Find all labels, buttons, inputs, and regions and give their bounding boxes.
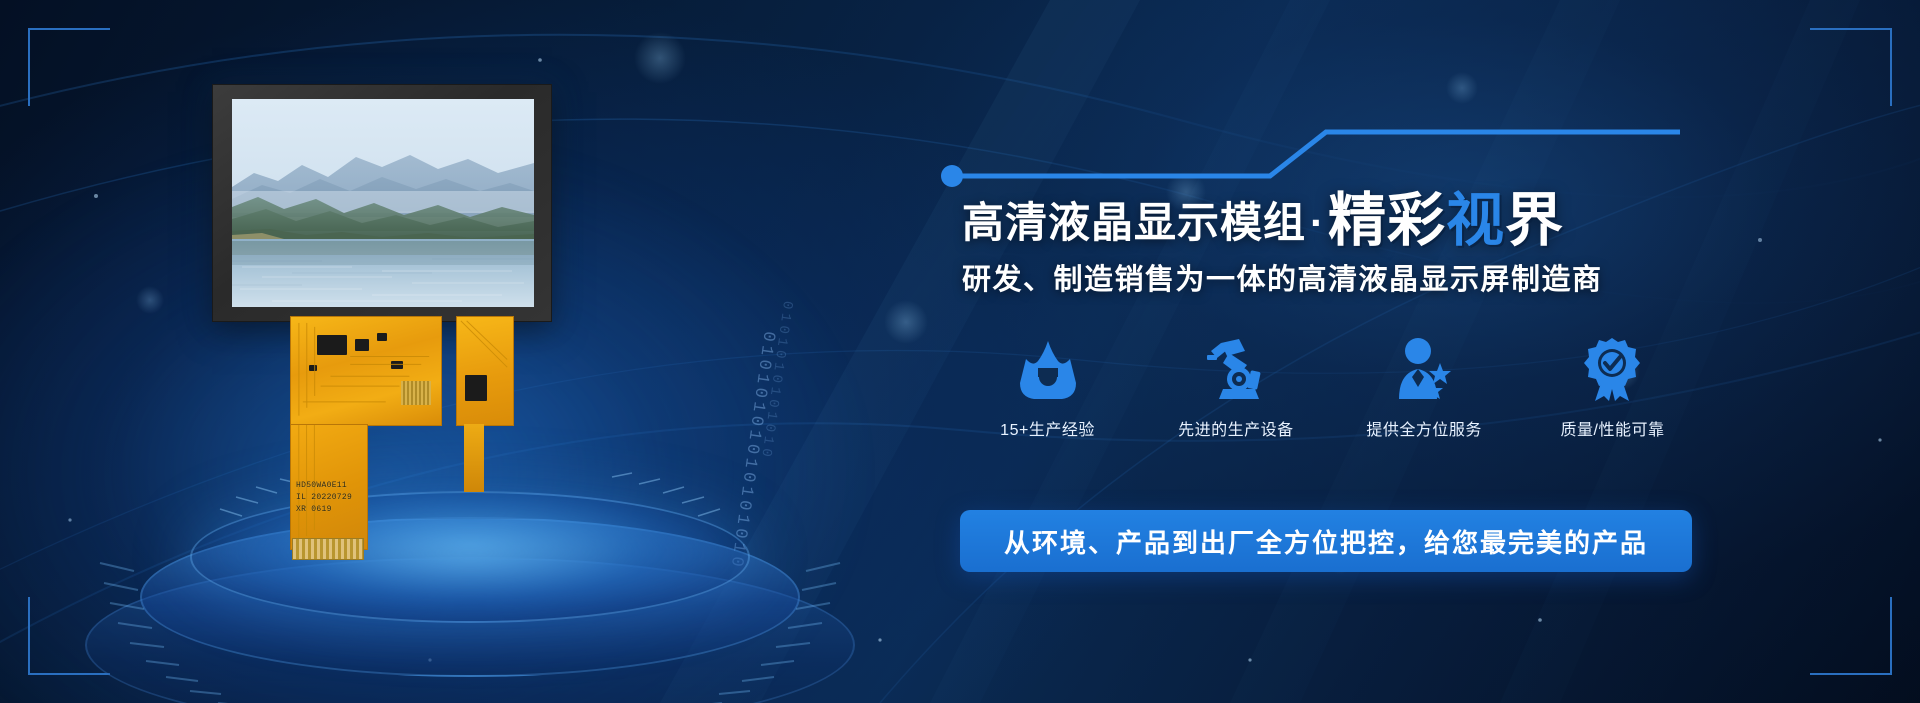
feature-list: 15+生产经验 先进的生产设备 <box>960 330 1700 440</box>
screen-landscape-image <box>232 99 534 307</box>
feature-label-experience: 15+生产经验 <box>960 416 1135 440</box>
feature-item-service: 提供全方位服务 <box>1337 330 1512 440</box>
pcb-board-main <box>290 316 442 426</box>
feature-item-quality: 质量/性能可靠 <box>1525 330 1700 440</box>
robot-arm-icon <box>1148 330 1323 408</box>
headline-emphasis-part-1: 精彩 <box>1328 188 1446 253</box>
cta-banner[interactable]: 从环境、产品到出厂全方位把控，给您最完美的产品 <box>960 510 1692 572</box>
quality-badge-icon <box>1525 330 1700 408</box>
service-star-icon <box>1337 330 1512 408</box>
pcb-board-right <box>456 316 514 426</box>
pcb-traces <box>291 317 441 426</box>
headline-emphasis-part-2: 视 <box>1446 188 1505 253</box>
lcd-module-product: HD50WA0E11 IL 20220729 XR 0619 <box>212 84 552 484</box>
promo-banner: 01010101010101010 0101010101010 <box>0 0 1920 703</box>
cta-text: 从环境、产品到出厂全方位把控，给您最完美的产品 <box>1004 523 1648 560</box>
crown-icon <box>960 330 1135 408</box>
feature-item-equipment: 先进的生产设备 <box>1148 330 1323 440</box>
feature-item-experience: 15+生产经验 <box>960 330 1135 440</box>
pcb-connector <box>292 538 364 560</box>
feature-label-equipment: 先进的生产设备 <box>1148 416 1323 440</box>
pcb-label-model: HD50WA0E11 <box>296 480 386 492</box>
content-column: 高清液晶显示模组 · 精彩视界 研发、制造销售为一体的高清液晶显示屏制造商 15… <box>952 0 1712 703</box>
feature-label-quality: 质量/性能可靠 <box>1525 416 1700 440</box>
headline-separator-dot: · <box>1306 202 1328 244</box>
headline-plain-text: 高清液晶显示模组 <box>962 202 1306 244</box>
pcb-label-date: IL 20220729 <box>296 492 386 504</box>
feature-label-service: 提供全方位服务 <box>1337 416 1512 440</box>
pcb-right-traces <box>457 317 513 423</box>
lcd-bezel <box>212 84 552 322</box>
headline: 高清液晶显示模组 · 精彩视界 <box>962 186 1564 244</box>
sub-headline: 研发、制造销售为一体的高清液晶显示屏制造商 <box>962 256 1603 298</box>
lcd-screen <box>232 99 534 307</box>
pcb-label-batch: XR 0619 <box>296 504 386 516</box>
pcb-printed-labels: HD50WA0E11 IL 20220729 XR 0619 <box>296 480 386 516</box>
pcb-right-flex-tail <box>464 424 484 492</box>
headline-emphasis-part-3: 界 <box>1505 188 1564 253</box>
zigzag-line-decor <box>940 118 1680 196</box>
